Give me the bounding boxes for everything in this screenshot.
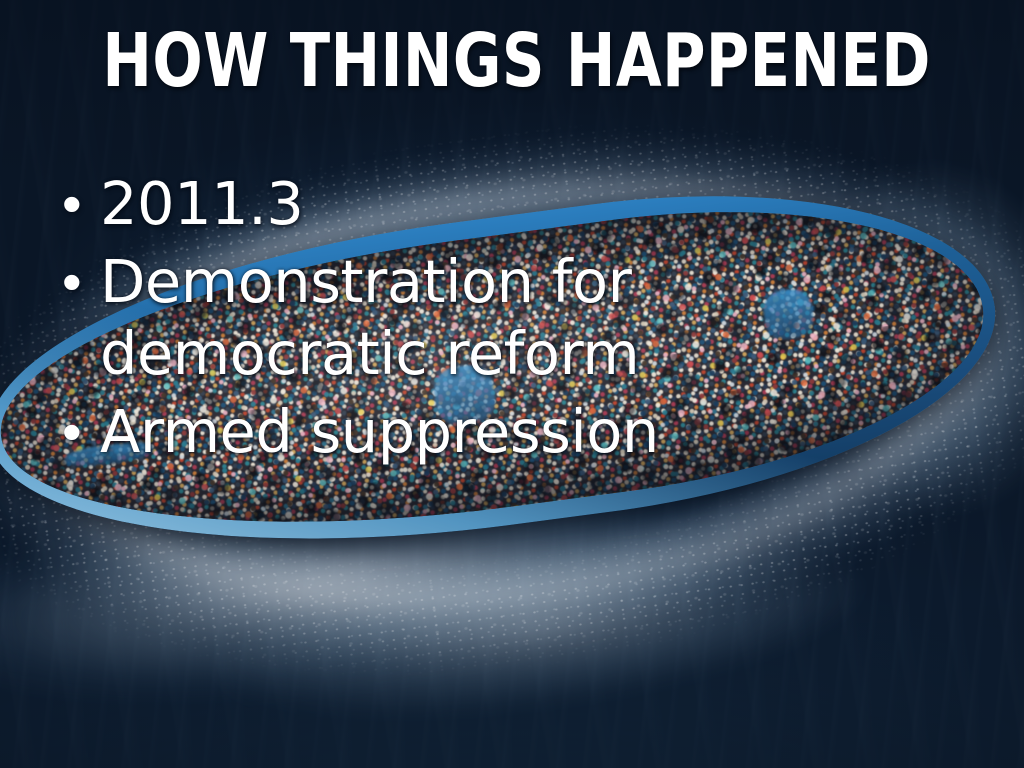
bullet-list: • 2011.3 • Demonstration for democratic …: [62, 168, 984, 474]
bullet-line: democratic reform: [100, 318, 639, 390]
bullet-marker-icon: •: [62, 168, 100, 240]
bullet-line: 2011.3: [100, 169, 303, 238]
bullet-text-demonstration: Demonstration for democratic reform: [100, 246, 639, 390]
bullet-text-suppression: Armed suppression: [100, 396, 659, 468]
bullet-line: Armed suppression: [100, 397, 659, 466]
bullet-text-date: 2011.3: [100, 168, 303, 240]
bullet-marker-icon: •: [62, 246, 100, 318]
bullet-item-suppression: • Armed suppression: [62, 396, 984, 468]
bullet-item-demonstration: • Demonstration for democratic reform: [62, 246, 984, 390]
bullet-item-date: • 2011.3: [62, 168, 984, 240]
bullet-marker-icon: •: [62, 396, 100, 468]
bullet-line: Demonstration for: [100, 247, 631, 316]
slide-title: HOW THINGS HAPPENED: [102, 24, 921, 98]
presentation-slide: HOW THINGS HAPPENED • 2011.3 • Demonstra…: [0, 0, 1024, 768]
